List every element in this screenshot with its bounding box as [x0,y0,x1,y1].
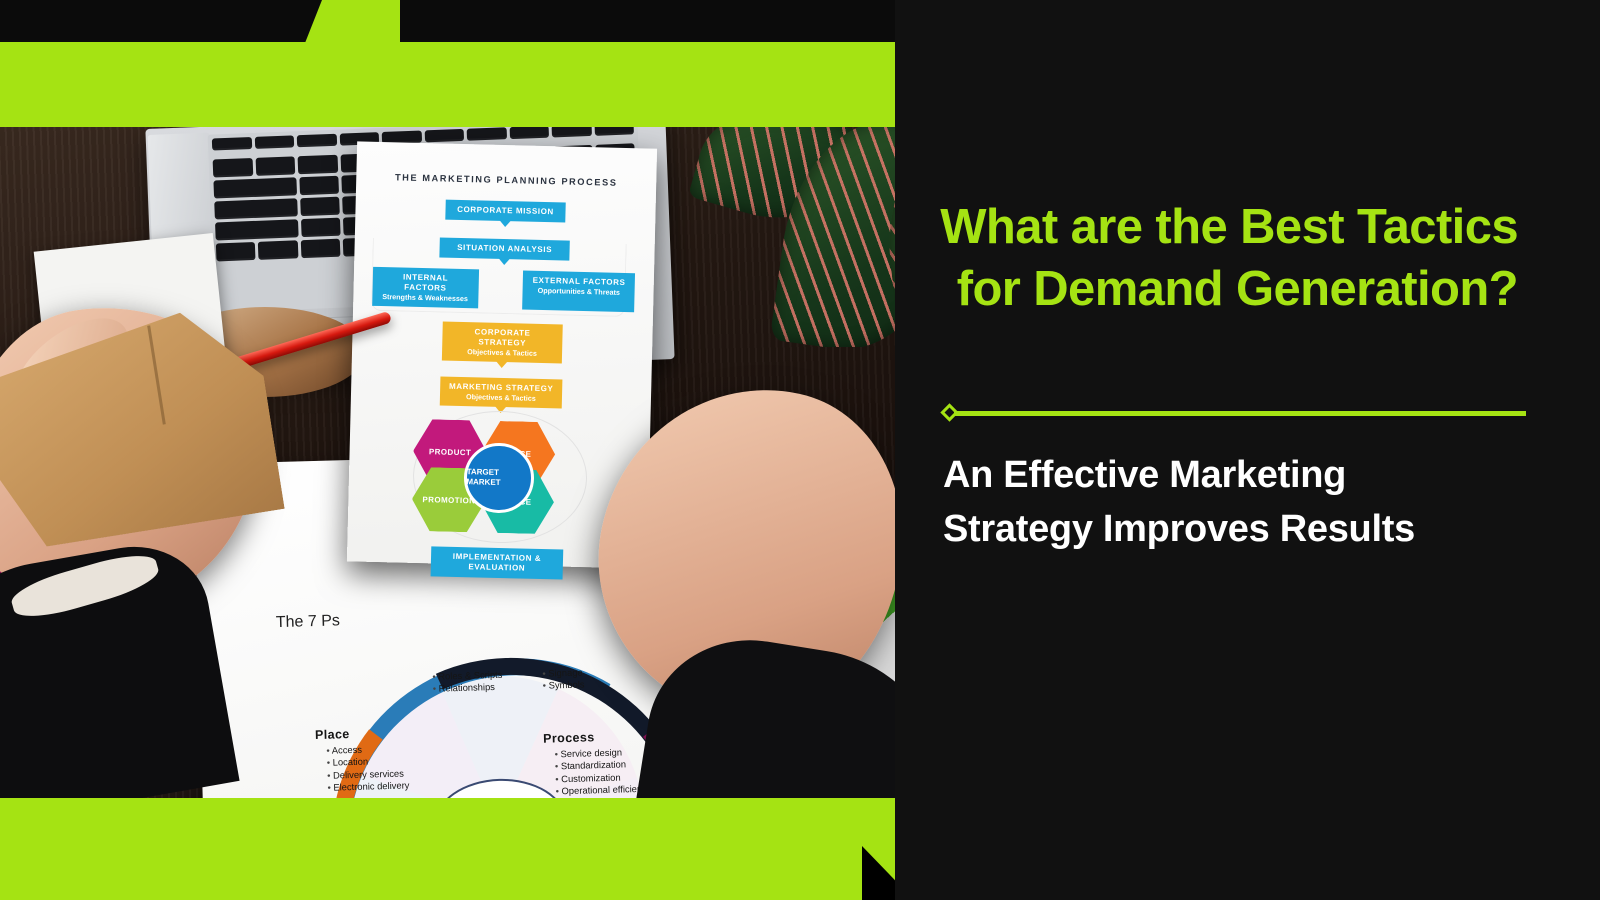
flow-corporate-strategy: CORPORATE STRATEGY Objectives & Tactics [442,322,563,364]
flow-tail [498,258,510,265]
hex-label: PROMOTION [422,495,475,505]
planning-process-title: THE MARKETING PLANNING PROCESS [356,171,656,188]
flow-implementation-evaluation: IMPLEMENTATION & EVALUATION [431,546,564,579]
page-title: What are the Best Tactics for Demand Gen… [935,196,1518,320]
flow-tail [496,361,508,368]
wheel-segment-physical-evidence: Signage Symbols [531,667,585,693]
flow-marketing-strategy: MARKETING STRATEGY Objectives & Tactics [440,377,563,409]
banner-stage: The 7 Ps Customer Place Access Loca [0,0,1600,900]
segment-item: Relationships [433,681,503,695]
text-panel: What are the Best Tactics for Demand Gen… [895,0,1600,900]
segment-items: Signage Symbols [531,667,585,693]
flow-tail [499,220,511,227]
wheel-segment-place: Place Access Location Delivery services … [315,725,410,794]
potted-plant [690,127,895,347]
marketing-mix-hexes: PRODUCT PRICE PROMOTION PLACE TARGET MAR… [405,417,593,536]
flow-label: CORPORATE STRATEGY [450,327,554,350]
segment-item: Electronic delivery [327,780,409,795]
segment-item: Signage [542,667,584,681]
page-subtitle: An Effective Marketing Strategy Improves… [943,448,1503,556]
flow-corporate-mission: CORPORATE MISSION [445,200,565,223]
green-top-band [0,42,895,128]
flow-label: INTERNAL FACTORS [380,272,470,294]
wheel-segment-people: Roles & Scripts Relationships [421,669,503,696]
segment-items: Access Location Delivery services Electr… [315,742,409,794]
hex-label: PRODUCT [429,447,472,457]
photo-column: The 7 Ps Customer Place Access Loca [0,0,895,900]
seven-ps-title: The 7 Ps [276,612,341,632]
flow-internal-factors: INTERNAL FACTORS Strengths & Weaknesses [372,267,479,309]
segment-items: Service design Standardization Customiza… [543,746,651,798]
flow-situation-analysis: SITUATION ANALYSIS [439,237,569,260]
flow-sublabel: Opportunities & Threats [531,286,627,297]
flow-label: IMPLEMENTATION & EVALUATION [439,552,555,575]
hero-photograph: The 7 Ps Customer Place Access Loca [0,127,895,798]
divider [943,406,1526,420]
segment-items: Roles & Scripts Relationships [421,669,503,696]
green-bottom-band [0,798,895,900]
target-market-label: TARGET MARKET [466,467,530,489]
wheel-segment-process: Process Service design Standardization C… [543,729,652,798]
flow-label: SITUATION ANALYSIS [447,243,561,256]
flow-sublabel: Objectives & Tactics [450,347,554,359]
segment-item: Symbols [543,679,585,693]
segment-heading: Place [315,725,408,742]
green-top-diagonal-wedge [280,0,400,43]
divider-line [954,411,1526,416]
flow-external-factors: EXTERNAL FACTORS Opportunities & Threats [522,270,635,312]
segment-heading: Process [543,729,650,746]
flow-label: CORPORATE MISSION [453,205,557,218]
seven-ps-wheel: Customer Place Access Location Delivery … [319,666,687,798]
flow-sublabel: Strengths & Weaknesses [380,292,470,303]
